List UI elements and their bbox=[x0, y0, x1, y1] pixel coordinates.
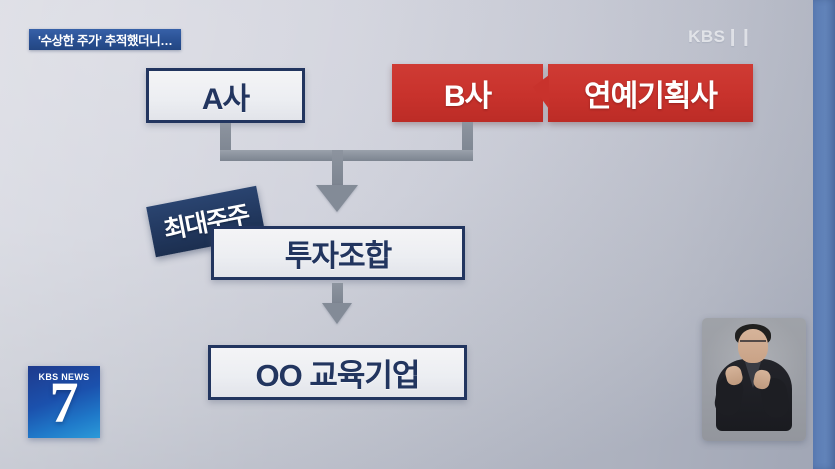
headline-banner: '수상한 주가' 추적했더니… bbox=[29, 29, 181, 50]
diagram-node-company-b: B사 bbox=[392, 64, 543, 122]
sign-language-interpreter-inset bbox=[702, 318, 806, 441]
diagram-callout-entertainment-agency: 연예기획사 bbox=[548, 64, 753, 122]
callout-label: 연예기획사 bbox=[584, 71, 717, 115]
connector-merge-stem bbox=[332, 150, 343, 186]
headline-text: '수상한 주가' 추적했더니… bbox=[38, 30, 172, 49]
broadcast-screen: '수상한 주가' 추적했더니… KBS❙❙ A사 B사 연예기획사 최대주주 투… bbox=[0, 0, 835, 469]
kbs-news-7-bug: KBS NEWS 7 bbox=[28, 366, 100, 438]
diagram-node-investment-union: 투자조합 bbox=[211, 226, 465, 280]
kbs-watermark-text: KBS bbox=[688, 27, 725, 46]
callout-pointer-icon bbox=[533, 75, 549, 109]
news-bug-number: 7 bbox=[28, 374, 100, 432]
kbs-watermark-bars: ❙❙ bbox=[726, 27, 753, 46]
company-a-label: A사 bbox=[202, 74, 249, 118]
connector-union-to-education bbox=[332, 283, 343, 305]
diagram-node-company-a: A사 bbox=[146, 68, 305, 123]
company-b-label: B사 bbox=[444, 71, 491, 115]
right-edge-strip bbox=[813, 0, 835, 469]
investment-union-label: 투자조합 bbox=[285, 231, 391, 275]
diagram-node-education-company: OO 교육기업 bbox=[208, 345, 467, 400]
education-company-label: OO 교육기업 bbox=[256, 350, 420, 395]
kbs-network-watermark: KBS❙❙ bbox=[688, 27, 752, 47]
connector-horizontal-bar bbox=[220, 150, 473, 161]
interpreter-glasses-icon bbox=[740, 340, 766, 349]
arrow-down-to-union-icon bbox=[316, 185, 358, 212]
arrow-down-to-education-icon bbox=[322, 303, 352, 324]
